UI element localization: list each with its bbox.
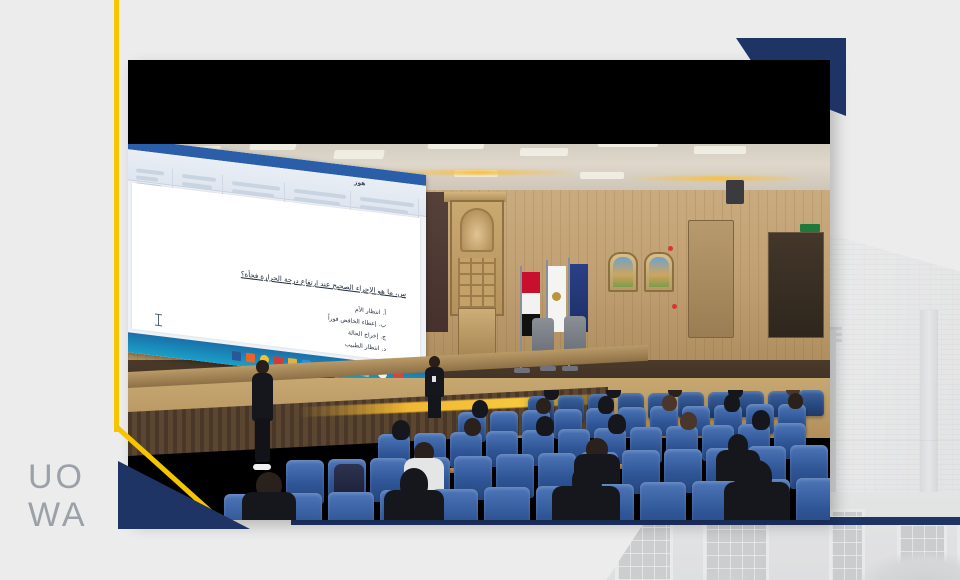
person-seated: [598, 396, 614, 414]
indicator-light: [672, 304, 677, 309]
text-cursor-icon: [158, 314, 159, 326]
projector-screen: هوز س، ما هو الإجراء الصحيح عند ارتفاع د…: [128, 138, 426, 389]
person-seated: [680, 412, 697, 430]
yellow-vertical-accent: [114, 0, 119, 432]
person-seated: [536, 416, 554, 436]
person-seated: [464, 418, 481, 436]
ribbon-active-tab-label[interactable]: هوز: [354, 179, 365, 187]
side-door: [688, 220, 734, 338]
audience-seating: [128, 390, 830, 520]
exit-sign: [800, 224, 820, 232]
taskbar-icon-word[interactable]: [232, 351, 241, 361]
wall-art-frame: [608, 252, 638, 292]
stage-chair: [564, 316, 586, 350]
slide-answer-d: د. انتظار الطبيب: [345, 341, 386, 353]
slide-answer-a: أ. انتظار الأم: [355, 306, 386, 317]
person-seated: [752, 410, 770, 430]
carved-wooden-panel: [450, 200, 504, 316]
uowa-logo: UO WA: [28, 458, 118, 536]
university-crest-icon: [552, 292, 561, 301]
person-seated-body: [242, 492, 296, 520]
flag-base: [562, 366, 578, 371]
wall-art-frame: [644, 252, 674, 292]
person-seated-body: [552, 486, 620, 520]
person-seated: [662, 395, 677, 411]
person-seated: [608, 414, 626, 434]
slide-question-text: س، ما هو الإجراء الصحيح عند ارتفاع درجة …: [241, 270, 406, 298]
stage-chair: [532, 318, 554, 352]
person-seated: [472, 400, 488, 418]
logo-line-1: UO: [28, 458, 118, 496]
person-seated-body: [724, 482, 790, 520]
rear-doorway: [768, 232, 824, 338]
person-seated: [788, 393, 803, 409]
flag-base: [514, 368, 530, 373]
indicator-light: [668, 246, 673, 251]
person-seated: [392, 420, 410, 440]
logo-line-2: WA: [28, 496, 118, 534]
slide-canvas: هوز س، ما هو الإجراء الصحيح عند ارتفاع د…: [0, 0, 960, 580]
slide-answer-b: ب. إعطاء الخافض فوراً: [328, 315, 386, 329]
ceiling-speaker: [726, 180, 744, 204]
slide-answer-c: ج. إخراج الحالة: [348, 329, 386, 341]
person-seated-body: [384, 490, 444, 520]
photo-letterbox-bar: [128, 60, 830, 144]
person-seated: [724, 394, 740, 412]
lecture-hall-photo: هوز س، ما هو الإجراء الصحيح عند ارتفاع د…: [128, 60, 830, 520]
wooden-podium: [458, 308, 496, 356]
person-seated: [536, 398, 551, 414]
flag-base: [540, 366, 556, 371]
